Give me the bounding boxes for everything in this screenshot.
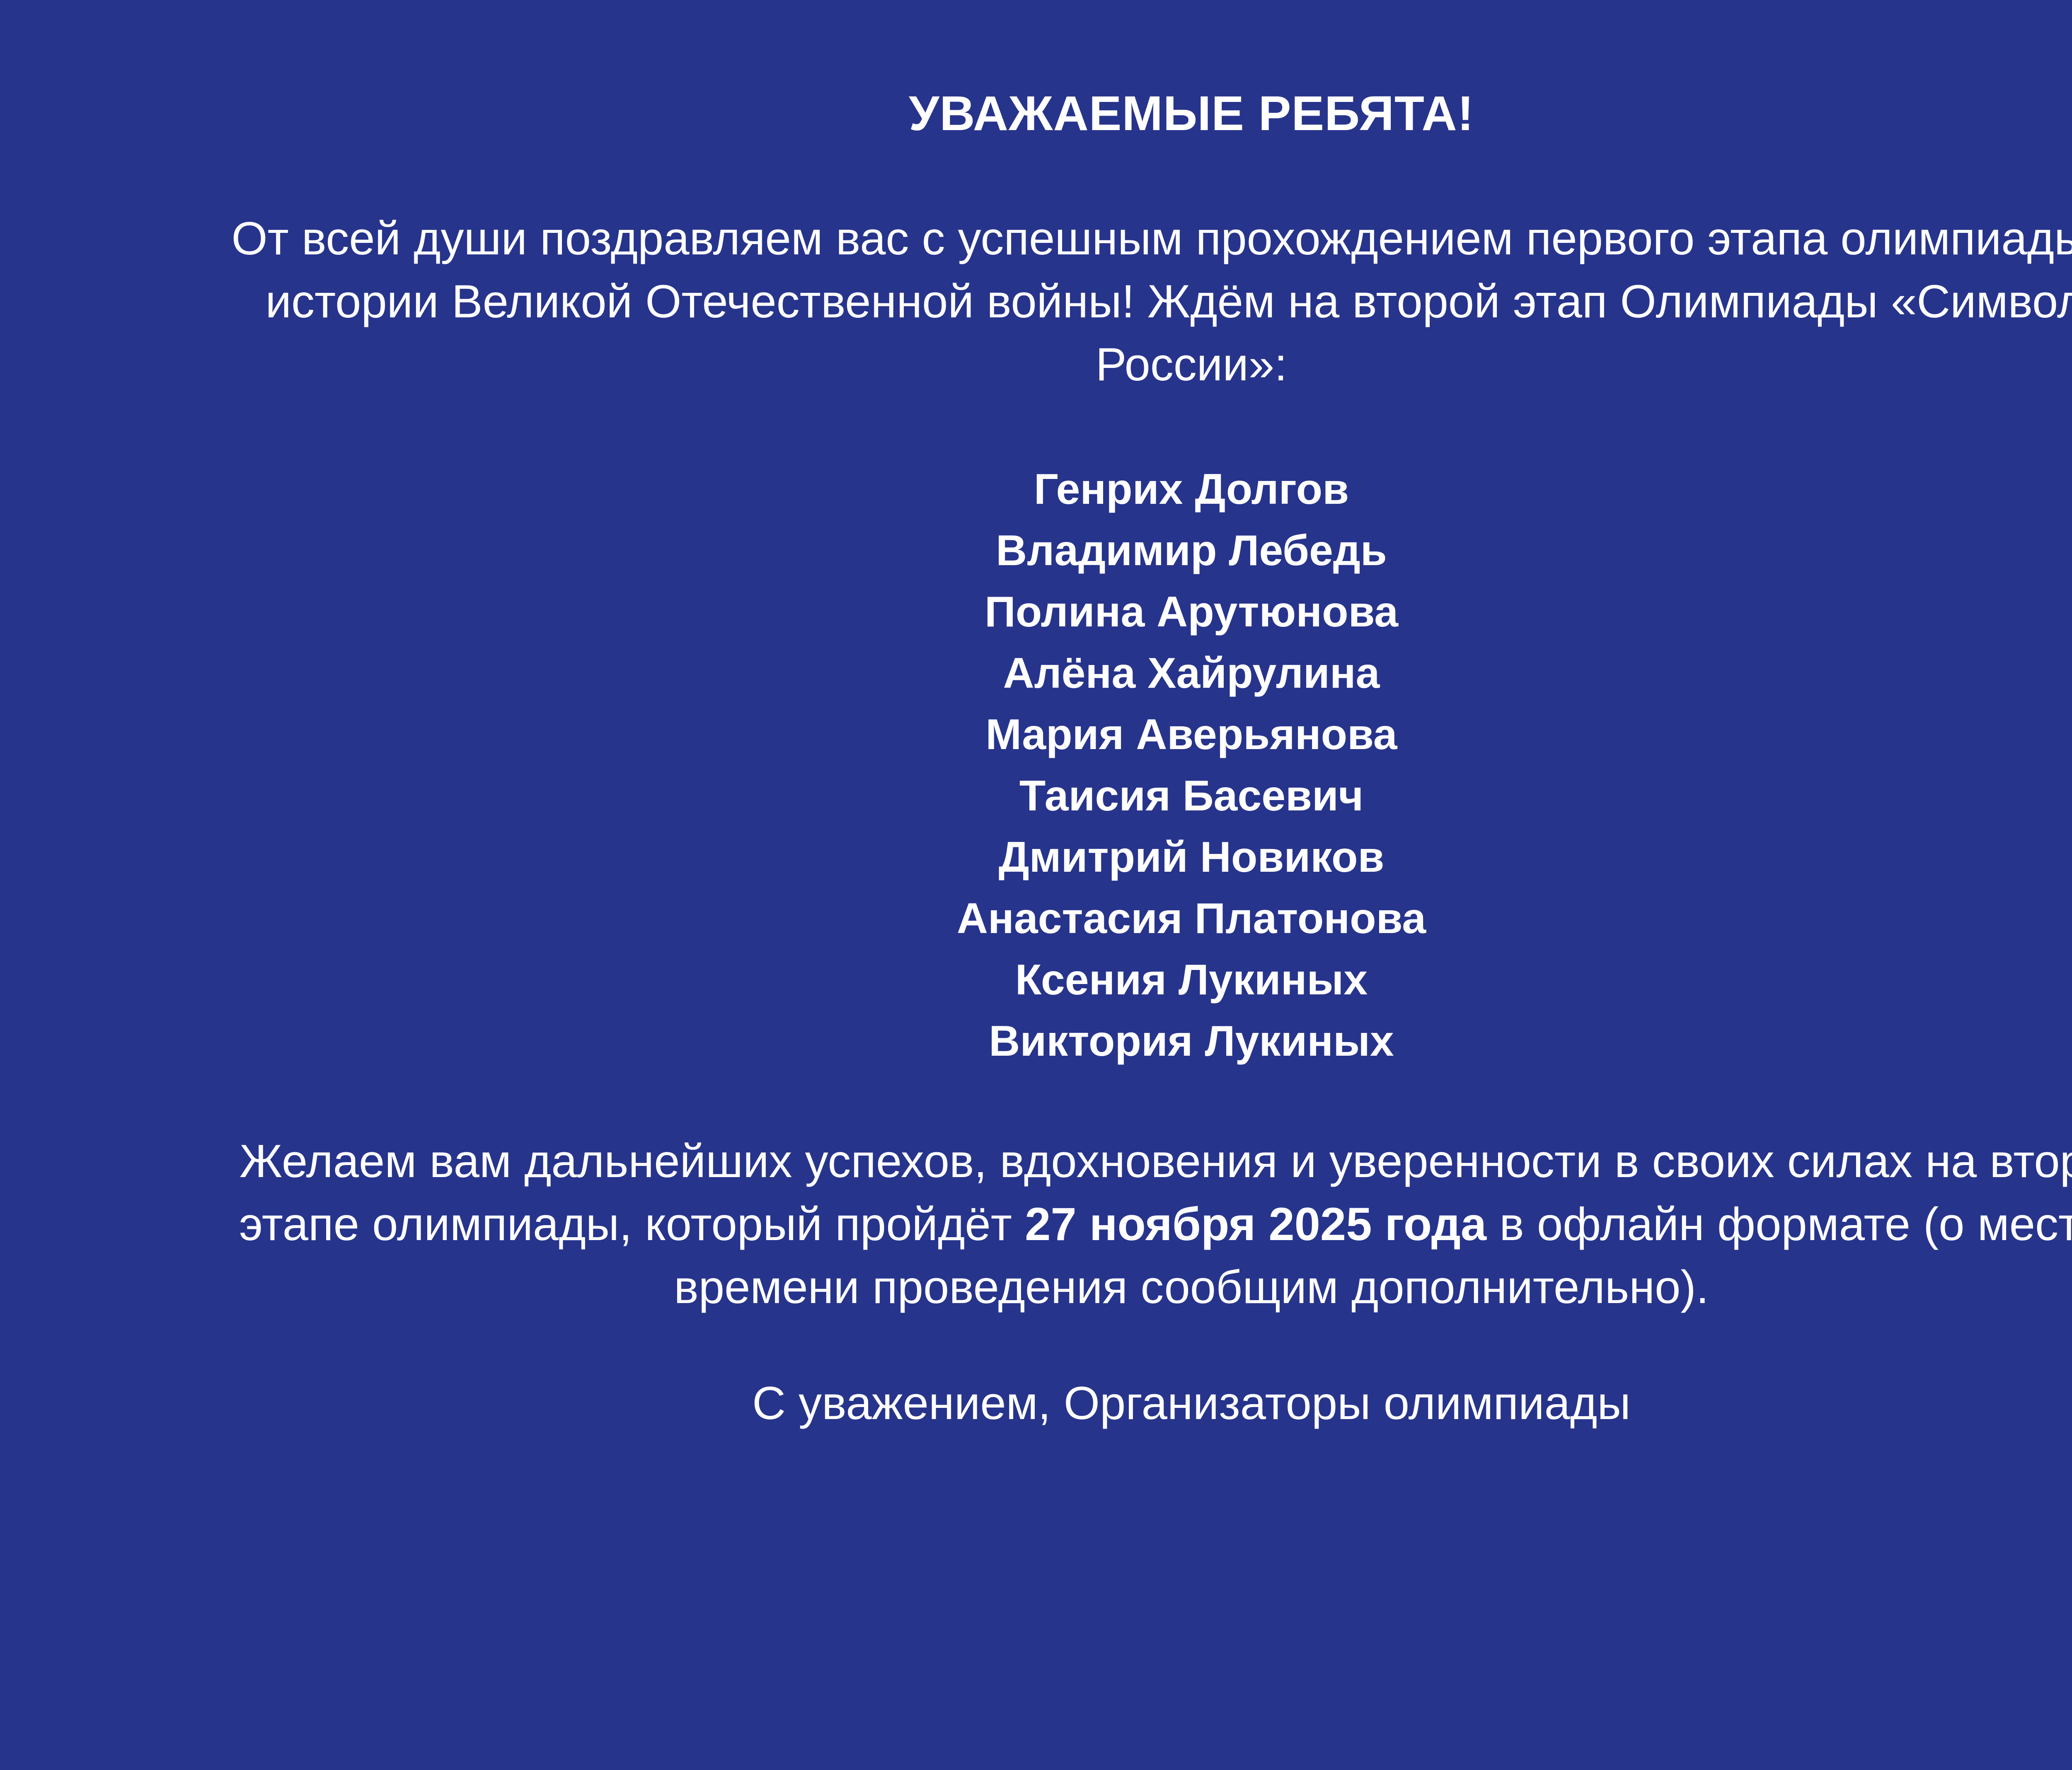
list-item: Владимир Лебедь (174, 520, 2072, 581)
list-item: Ксения Лукиных (174, 949, 2072, 1011)
list-item: Мария Аверьянова (174, 704, 2072, 765)
list-item: Анастасия Платонова (174, 888, 2072, 949)
list-item: Дмитрий Новиков (174, 827, 2072, 888)
list-item: Полина Арутюнова (174, 581, 2072, 643)
list-item: Виктория Лукиных (174, 1011, 2072, 1072)
signature: С уважением, Организаторы олимпиады (752, 1373, 1631, 1434)
second-stage-date: 27 ноября 2025 года (1025, 1198, 1486, 1250)
list-item: Генрих Долгов (174, 459, 2072, 520)
list-item: Таисия Басевич (174, 765, 2072, 827)
winners-list: Генрих Долгов Владимир Лебедь Полина Ару… (174, 459, 2072, 1072)
closing-paragraph: Желаем вам дальнейших успехов, вдохновен… (174, 1130, 2072, 1319)
announcement-poster: УВАЖАЕМЫЕ РЕБЯТА! От всей души поздравля… (0, 0, 2072, 1770)
page-title: УВАЖАЕМЫЕ РЕБЯТА! (909, 87, 1474, 141)
intro-paragraph: От всей души поздравляем вас с успешным … (174, 207, 2072, 397)
list-item: Алёна Хайрулина (174, 643, 2072, 704)
